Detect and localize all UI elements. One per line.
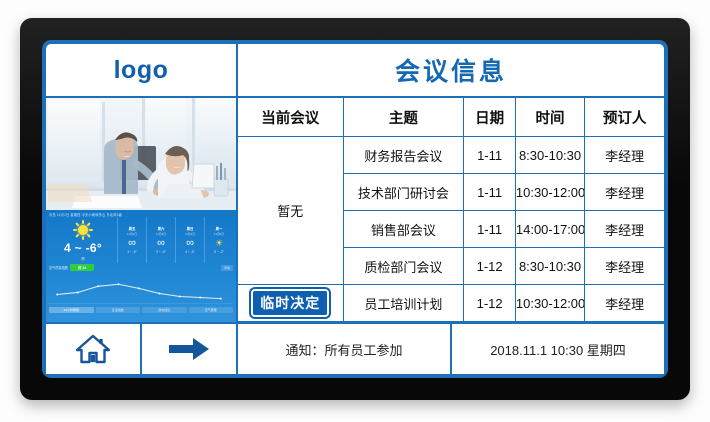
home-icon: [76, 334, 110, 364]
cell-booker: 李经理: [585, 137, 664, 174]
forecast-temp: 6 ~ -2°: [214, 250, 224, 254]
nav-bar: [46, 322, 236, 374]
body-area: 青岛 11月1日 星期四 今天小雨转多云 东北风3级: [46, 98, 664, 374]
forecast-date: 11月2日: [127, 232, 137, 236]
home-button[interactable]: [46, 324, 140, 374]
forecast-date: 11月5日: [214, 232, 224, 236]
cell-date: 1-12: [464, 248, 516, 285]
cloudy-icon: ∞: [157, 238, 165, 249]
forecast-day[interactable]: 周六 11月3日 ∞ 5 ~ -4°: [146, 217, 175, 263]
table-row: 临时决定 员工培训计划 1-12 10:30-12:00 李经理: [238, 285, 664, 322]
page-title: 会议信息: [395, 52, 507, 88]
cell-booker: 李经理: [585, 248, 664, 285]
weather-main: 4 ~ -6° 晴 周五 11月2日 ∞ 3 ~ -5°: [46, 217, 236, 263]
forecast-temp: 3 ~ -5°: [127, 250, 137, 254]
tab-life-index[interactable]: 生活指数: [96, 307, 141, 313]
office-photo: [46, 98, 236, 210]
screenshot-root: logo 会议信息: [0, 0, 710, 422]
forecast-date: 11月4日: [185, 232, 195, 236]
aqi-label: 空气质量指数: [49, 265, 68, 270]
weather-tabs: 24小时预报 生活指数 穿衣建议 空气质量: [46, 307, 236, 314]
sun-icon: [73, 220, 93, 240]
cloudy-icon: ∞: [128, 238, 136, 249]
cell-booker: 李经理: [585, 211, 664, 248]
cell-date: 1-12: [464, 285, 516, 322]
tab-air-quality[interactable]: 空气质量: [189, 307, 234, 313]
cell-subject: 销售部会议: [343, 211, 464, 248]
cell-time: 10:30-12:00: [515, 285, 584, 322]
tab-dress-advice[interactable]: 穿衣建议: [142, 307, 187, 313]
forecast-day[interactable]: 周五 11月2日 ∞ 3 ~ -5°: [117, 217, 146, 263]
cloudy-icon: ∞: [186, 238, 194, 249]
cell-subject: 财务报告会议: [343, 137, 464, 174]
arrow-right-icon: [168, 336, 210, 362]
weather-location-line: 青岛 11月1日 星期四 今天小雨转多云 东北风3级: [46, 210, 236, 217]
notice-text: 通知：所有员工参加: [238, 324, 450, 374]
monitor-bezel: logo 会议信息: [20, 18, 690, 400]
title-cell: 会议信息: [238, 44, 664, 96]
weather-condition: 晴: [81, 256, 84, 261]
cell-time: 8:30-10:30: [515, 248, 584, 285]
forecast-day[interactable]: 周一 11月5日 ☀ 6 ~ -2°: [204, 217, 233, 263]
cell-subject: 员工培训计划: [343, 285, 464, 322]
cell-time: 10:30-12:00: [515, 174, 584, 211]
left-panel: 青岛 11月1日 星期四 今天小雨转多云 东北风3级: [46, 98, 238, 374]
forecast-day-label: 周日: [187, 226, 194, 231]
table-header-row: 当前会议 主题 日期 时间 预订人: [238, 98, 664, 137]
col-time: 时间: [515, 98, 584, 137]
temp-decision-button[interactable]: 临时决定: [251, 289, 329, 317]
cell-time: 8:30-10:30: [515, 137, 584, 174]
forecast-day-label: 周五: [129, 226, 136, 231]
aqi-badge: 优 34: [70, 264, 94, 271]
current-meeting-cell: 暂无: [238, 137, 343, 285]
logo-text: logo: [114, 56, 169, 85]
weather-temperature: 4 ~ -6°: [64, 241, 102, 255]
forecast-day[interactable]: 周日 11月4日 ∞ 4 ~ -3°: [175, 217, 204, 263]
forecast-temp: 5 ~ -4°: [156, 250, 166, 254]
col-date: 日期: [464, 98, 516, 137]
weather-current: 4 ~ -6° 晴: [49, 217, 117, 263]
col-subject: 主题: [343, 98, 464, 137]
cell-booker: 李经理: [585, 285, 664, 322]
header-band: logo 会议信息: [46, 44, 664, 98]
cell-subject: 质检部门会议: [343, 248, 464, 285]
display-screen: logo 会议信息: [42, 40, 668, 378]
cell-time: 14:00-17:00: [515, 211, 584, 248]
col-current-meeting: 当前会议: [238, 98, 343, 137]
col-booker: 预订人: [585, 98, 664, 137]
cell-date: 1-11: [464, 137, 516, 174]
weather-forecast-list: 周五 11月2日 ∞ 3 ~ -5° 周六 11月3日 ∞ 5 ~ -4°: [117, 217, 233, 263]
aqi-detail-link[interactable]: 详情: [221, 265, 233, 271]
sun-cloud-icon: ☀: [215, 238, 223, 249]
next-button[interactable]: [140, 324, 236, 374]
logo-cell: logo: [46, 44, 238, 96]
footer-bar: 通知：所有员工参加 2018.11.1 10:30 星期四: [238, 322, 664, 374]
cell-date: 1-11: [464, 174, 516, 211]
forecast-date: 11月3日: [156, 232, 166, 236]
temp-decision-cell: 临时决定: [238, 285, 343, 322]
right-panel: 当前会议 主题 日期 时间 预订人 暂无 财务报告会议 1-11 8:30-10…: [238, 98, 664, 374]
weather-widget[interactable]: 青岛 11月1日 星期四 今天小雨转多云 东北风3级: [46, 210, 236, 322]
forecast-temp: 4 ~ -3°: [185, 250, 195, 254]
table-row: 暂无 财务报告会议 1-11 8:30-10:30 李经理: [238, 137, 664, 174]
forecast-day-label: 周六: [158, 226, 165, 231]
cell-subject: 技术部门研讨会: [343, 174, 464, 211]
datetime-text: 2018.11.1 10:30 星期四: [450, 324, 664, 374]
temperature-trend-chart: [46, 272, 236, 307]
cell-date: 1-11: [464, 211, 516, 248]
meetings-table: 当前会议 主题 日期 时间 预订人 暂无 财务报告会议 1-11 8:30-10…: [238, 98, 664, 322]
tab-24h[interactable]: 24小时预报: [49, 307, 94, 313]
forecast-day-label: 周一: [216, 226, 223, 231]
air-quality-row: 空气质量指数 优 34 详情: [46, 263, 236, 272]
cell-booker: 李经理: [585, 174, 664, 211]
